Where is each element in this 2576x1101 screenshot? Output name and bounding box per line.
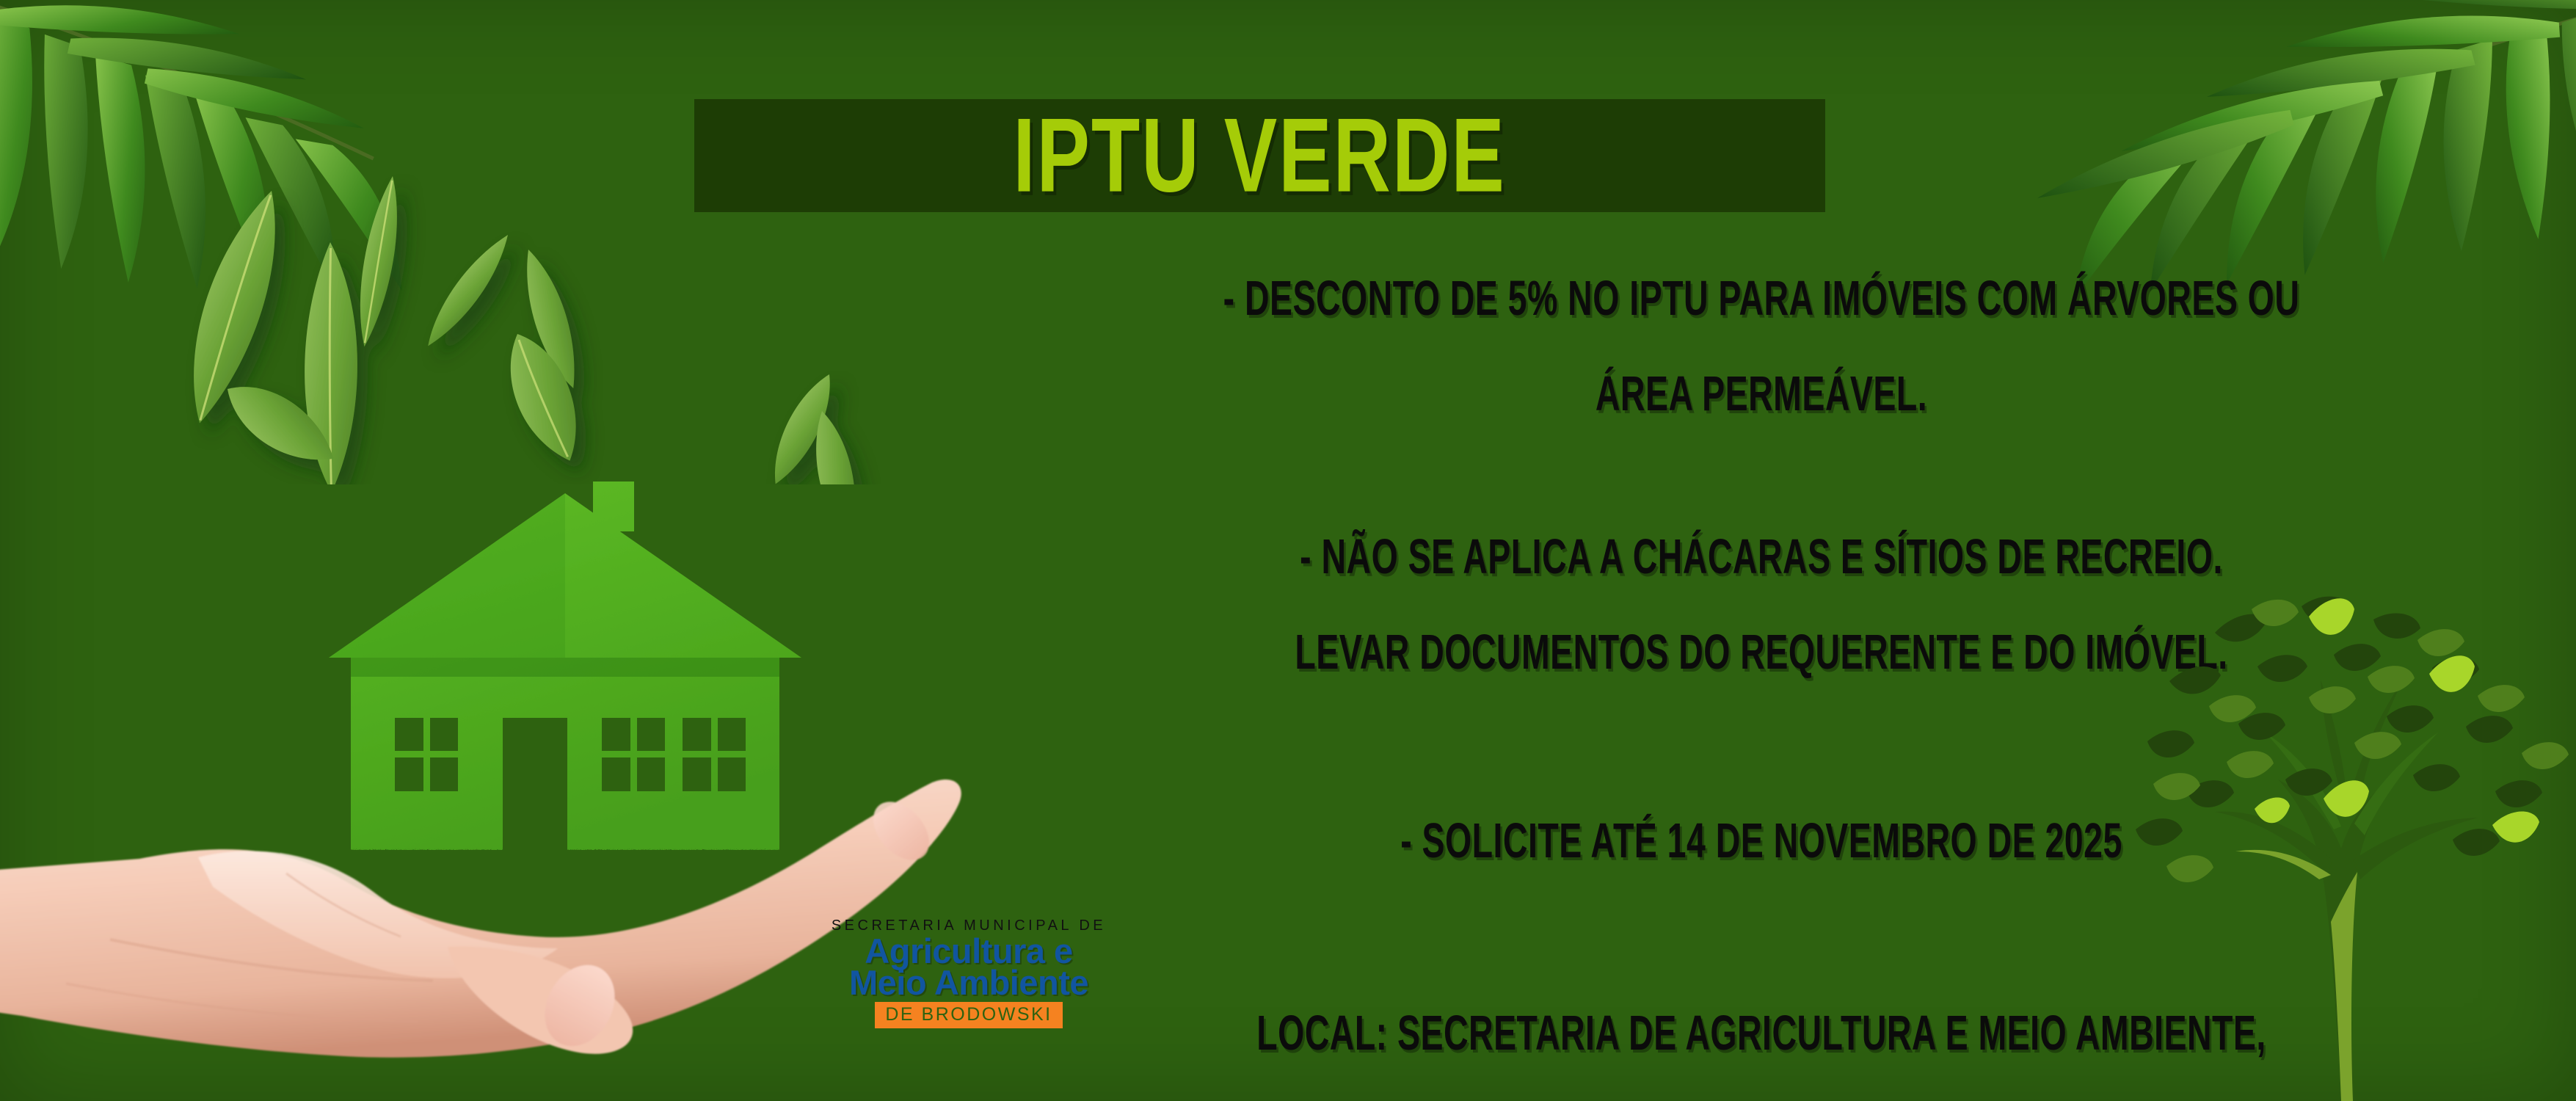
copy-line: - DESCONTO DE 5% NO IPTU PARA IMÓVEIS CO… <box>1079 272 2444 324</box>
logo-city-badge: DE BRODOWSKI <box>875 1002 1062 1028</box>
body-copy: - DESCONTO DE 5% NO IPTU PARA IMÓVEIS CO… <box>1027 279 2495 1101</box>
iptu-verde-banner: IPTU VERDE <box>0 0 2576 1101</box>
paragraph-deadline: - SOLICITE ATÉ 14 DE NOVEMBRO DE 2025 <box>1027 821 2495 860</box>
secretariat-logo: SECRETARIA MUNICIPAL DE Agricultura e Me… <box>778 917 1160 1028</box>
copy-line: ÁREA PERMEÁVEL. <box>1079 368 2444 419</box>
copy-line: LOCAL: SECRETARIA DE AGRICULTURA E MEIO … <box>1079 1007 2444 1058</box>
paragraph-location: LOCAL: SECRETARIA DE AGRICULTURA E MEIO … <box>1027 1014 2495 1101</box>
copy-line: LEVAR DOCUMENTOS DO REQUERENTE E DO IMÓV… <box>1079 626 2444 677</box>
copy-line: - SOLICITE ATÉ 14 DE NOVEMBRO DE 2025 <box>1079 815 2444 866</box>
page-title: IPTU VERDE <box>1014 103 1506 208</box>
paragraph-restrictions: - NÃO SE APLICA A CHÁCARAS E SÍTIOS DE R… <box>1027 537 2495 671</box>
palm-frond-icon <box>0 0 573 426</box>
paragraph-discount: - DESCONTO DE 5% NO IPTU PARA IMÓVEIS CO… <box>1027 279 2495 413</box>
logo-line-2: Meio Ambiente <box>778 967 1160 998</box>
copy-line: - NÃO SE APLICA A CHÁCARAS E SÍTIOS DE R… <box>1079 531 2444 582</box>
logo-line-1: Agricultura e <box>778 935 1160 967</box>
title-banner-box: IPTU VERDE <box>694 99 1825 212</box>
